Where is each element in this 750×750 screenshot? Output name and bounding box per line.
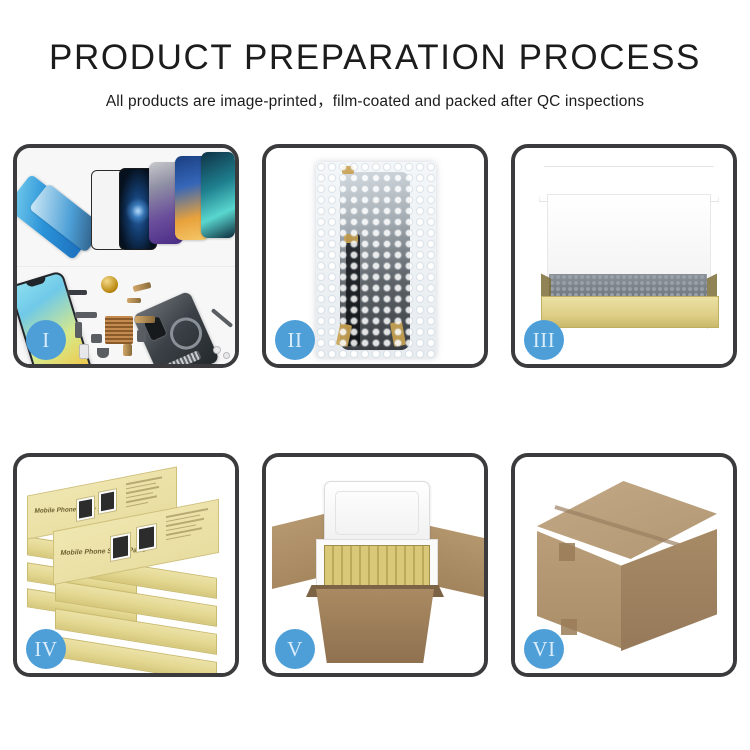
white-foam-sheet: [547, 194, 711, 284]
small-part: [79, 344, 89, 359]
carton-body: [308, 589, 442, 663]
page-subtitle: All products are image-printed，film-coat…: [0, 89, 750, 111]
step-badge-6: VI: [524, 629, 564, 669]
foam-box-lid: [324, 481, 430, 545]
yellow-boxes-inside: [324, 545, 430, 591]
logic-board-chip: [105, 316, 133, 344]
step-panel-6[interactable]: VI: [511, 453, 737, 677]
small-part: [127, 298, 141, 303]
step-badge-5: V: [275, 629, 315, 669]
step-panel-1[interactable]: I: [13, 144, 239, 368]
step-panel-2[interactable]: II: [262, 144, 488, 368]
step-badge-4: IV: [26, 629, 66, 669]
step-panel-3[interactable]: III: [511, 144, 737, 368]
step-badge-3: III: [524, 320, 564, 360]
bubble-wrap-bag: [316, 162, 436, 358]
taptic-engine-part: [101, 276, 118, 293]
tape-patch: [559, 543, 575, 561]
small-part: [75, 312, 97, 318]
screw: [213, 346, 221, 354]
teal-phone: [201, 152, 235, 238]
small-part: [123, 344, 132, 356]
step-badge-2: II: [275, 320, 315, 360]
steps-grid: I II III: [13, 144, 737, 677]
yellow-box-front: [541, 296, 719, 328]
small-part: [97, 348, 109, 358]
small-part: [91, 334, 102, 343]
step-panel-5[interactable]: V: [262, 453, 488, 677]
tape-patch: [561, 619, 577, 635]
small-part: [67, 290, 87, 295]
step-badge-1: I: [26, 320, 66, 360]
page-title: PRODUCT PREPARATION PROCESS: [0, 40, 750, 77]
small-part: [75, 322, 82, 338]
screw: [223, 352, 230, 359]
small-part: [135, 316, 155, 323]
small-part: [137, 330, 146, 342]
box-label-text: Mobile Phone Spare Parts: [60, 547, 146, 557]
header: PRODUCT PREPARATION PROCESS All products…: [0, 0, 750, 111]
step-panel-4[interactable]: Mobile Phone Spare Parts Mobile Phone Sp…: [13, 453, 239, 677]
